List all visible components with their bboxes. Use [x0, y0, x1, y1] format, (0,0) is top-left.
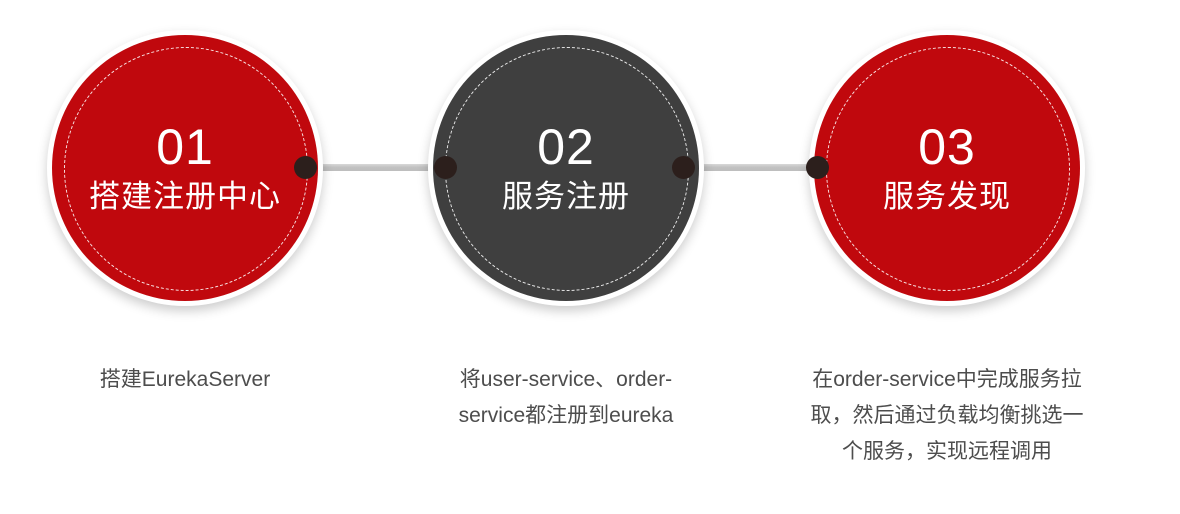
step-2-label: 服务注册 [502, 180, 630, 214]
step-1-circle[interactable]: 01 搭建注册中心 [52, 35, 318, 301]
step-3-caption-line: 取，然后通过负载均衡挑选一 [792, 398, 1102, 434]
step-1-label: 搭建注册中心 [89, 180, 281, 214]
step-3-caption-line: 在order-service中完成服务拉 [792, 362, 1102, 398]
step-2-number: 02 [537, 122, 595, 172]
step-1-caption-line: 搭建EurekaServer [35, 362, 335, 398]
step-2-circle[interactable]: 02 服务注册 [433, 35, 699, 301]
step-node-3[interactable]: 03 服务发现 [809, 30, 1085, 306]
connector-dot-step1-right [294, 156, 317, 179]
step-2-caption-line: service都注册到eureka [416, 398, 716, 434]
step-1-number: 01 [156, 122, 214, 172]
connector-dot-step2-right [672, 156, 695, 179]
step-3-circle[interactable]: 03 服务发现 [814, 35, 1080, 301]
connector-dot-step2-left [434, 156, 457, 179]
step-2-caption-line: 将user-service、order- [416, 362, 716, 398]
step-1-caption: 搭建EurekaServer [35, 362, 335, 398]
step-3-caption-line: 个服务，实现远程调用 [792, 434, 1102, 470]
step-3-label: 服务发现 [883, 180, 1011, 214]
step-node-1[interactable]: 01 搭建注册中心 [47, 30, 323, 306]
step-node-2[interactable]: 02 服务注册 [428, 30, 704, 306]
step-2-caption: 将user-service、order- service都注册到eureka [416, 362, 716, 434]
process-flow-diagram: 01 搭建注册中心 02 服务注册 03 服务发现 搭建EurekaServer… [0, 0, 1180, 514]
step-3-number: 03 [918, 122, 976, 172]
connector-dot-step3-left [806, 156, 829, 179]
step-3-caption: 在order-service中完成服务拉 取，然后通过负载均衡挑选一 个服务，实… [792, 362, 1102, 470]
